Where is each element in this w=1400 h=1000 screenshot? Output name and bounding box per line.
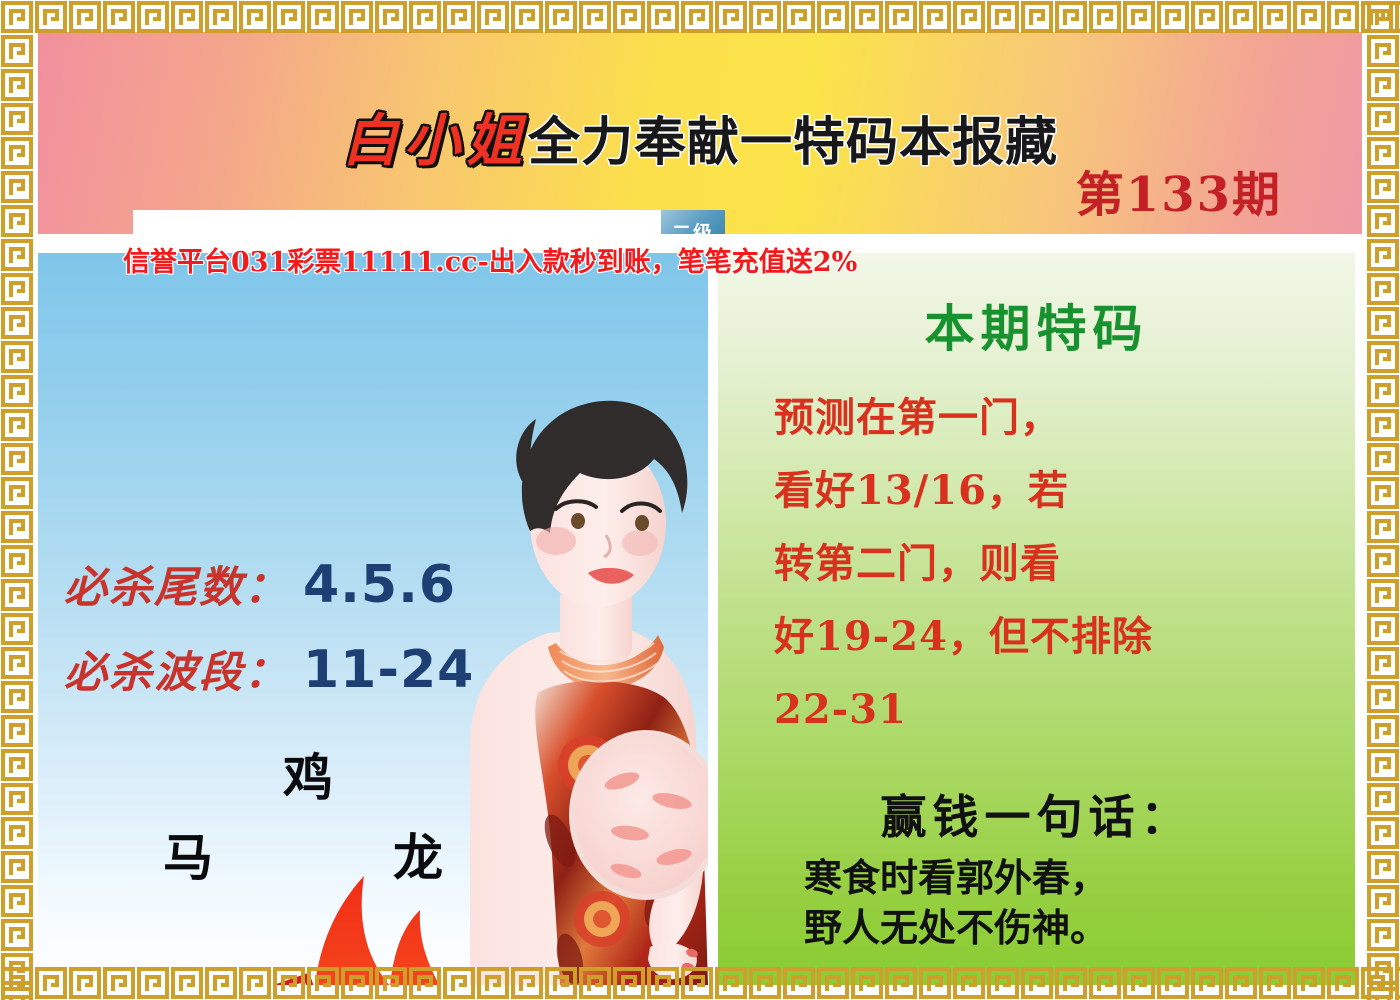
meander-left <box>0 0 34 1000</box>
text-line: 预测在第一门， <box>774 381 1314 454</box>
kill-band-label: 必杀波段： <box>64 638 289 700</box>
zodiac-rooster: 鸡 <box>283 738 333 810</box>
kill-band-value: 11-24 <box>303 640 474 700</box>
zodiac-dragon: 龙 <box>393 818 443 890</box>
kill-tail-label: 必杀尾数： <box>64 553 289 615</box>
forecast-text: 预测在第一门，看好13/16，若转第二门，则看好19-24，但不排除22-31 <box>774 381 1314 746</box>
right-panel: 本期特码 预测在第一门，看好13/16，若转第二门，则看好19-24，但不排除2… <box>718 253 1355 985</box>
title-brand: 白小姐 <box>342 109 528 174</box>
text-line: 好19-24，但不排除 <box>774 600 1314 673</box>
issue-number: 第133期 <box>1076 155 1282 225</box>
promo-banner: 信誉平台031彩票11111.cc-出入款秒到账，笔笔充值送2% <box>38 240 1362 276</box>
level-button[interactable]: 二级 <box>661 210 725 234</box>
zodiac-horse: 马 <box>163 818 213 890</box>
kill-band-row: 必杀波段： 11-24 <box>64 638 474 700</box>
text-line: 野人无处不伤神。 <box>804 903 1324 953</box>
kill-tail-row: 必杀尾数： 4.5.6 <box>64 553 456 615</box>
search-input[interactable] <box>133 210 661 234</box>
special-code-title: 本期特码 <box>718 289 1355 361</box>
tip-heading: 赢钱一句话： <box>718 781 1355 847</box>
meander-right <box>1366 0 1400 1000</box>
title-tagline: 全力奉献一特码本报藏 <box>528 113 1058 173</box>
meander-top <box>0 0 1400 34</box>
text-line: 寒食时看郭外春， <box>804 853 1324 903</box>
poster-root: 白小姐全力奉献一特码本报藏 二级 第133期 信誉平台031彩票11111.cc… <box>0 0 1400 1000</box>
left-panel: 必杀尾数： 4.5.6 必杀波段： 11-24 鸡 马 龙 正版 <box>38 253 708 985</box>
kill-tail-value: 4.5.6 <box>303 555 456 615</box>
header-band: 白小姐全力奉献一特码本报藏 二级 第133期 <box>38 32 1362 234</box>
search-bar[interactable]: 二级 <box>133 210 725 234</box>
tip-poem: 寒食时看郭外春，野人无处不伤神。 <box>804 853 1324 953</box>
text-line: 转第二门，则看 <box>774 527 1314 600</box>
text-line: 22-31 <box>774 673 1314 746</box>
text-line: 看好13/16，若 <box>774 454 1314 527</box>
